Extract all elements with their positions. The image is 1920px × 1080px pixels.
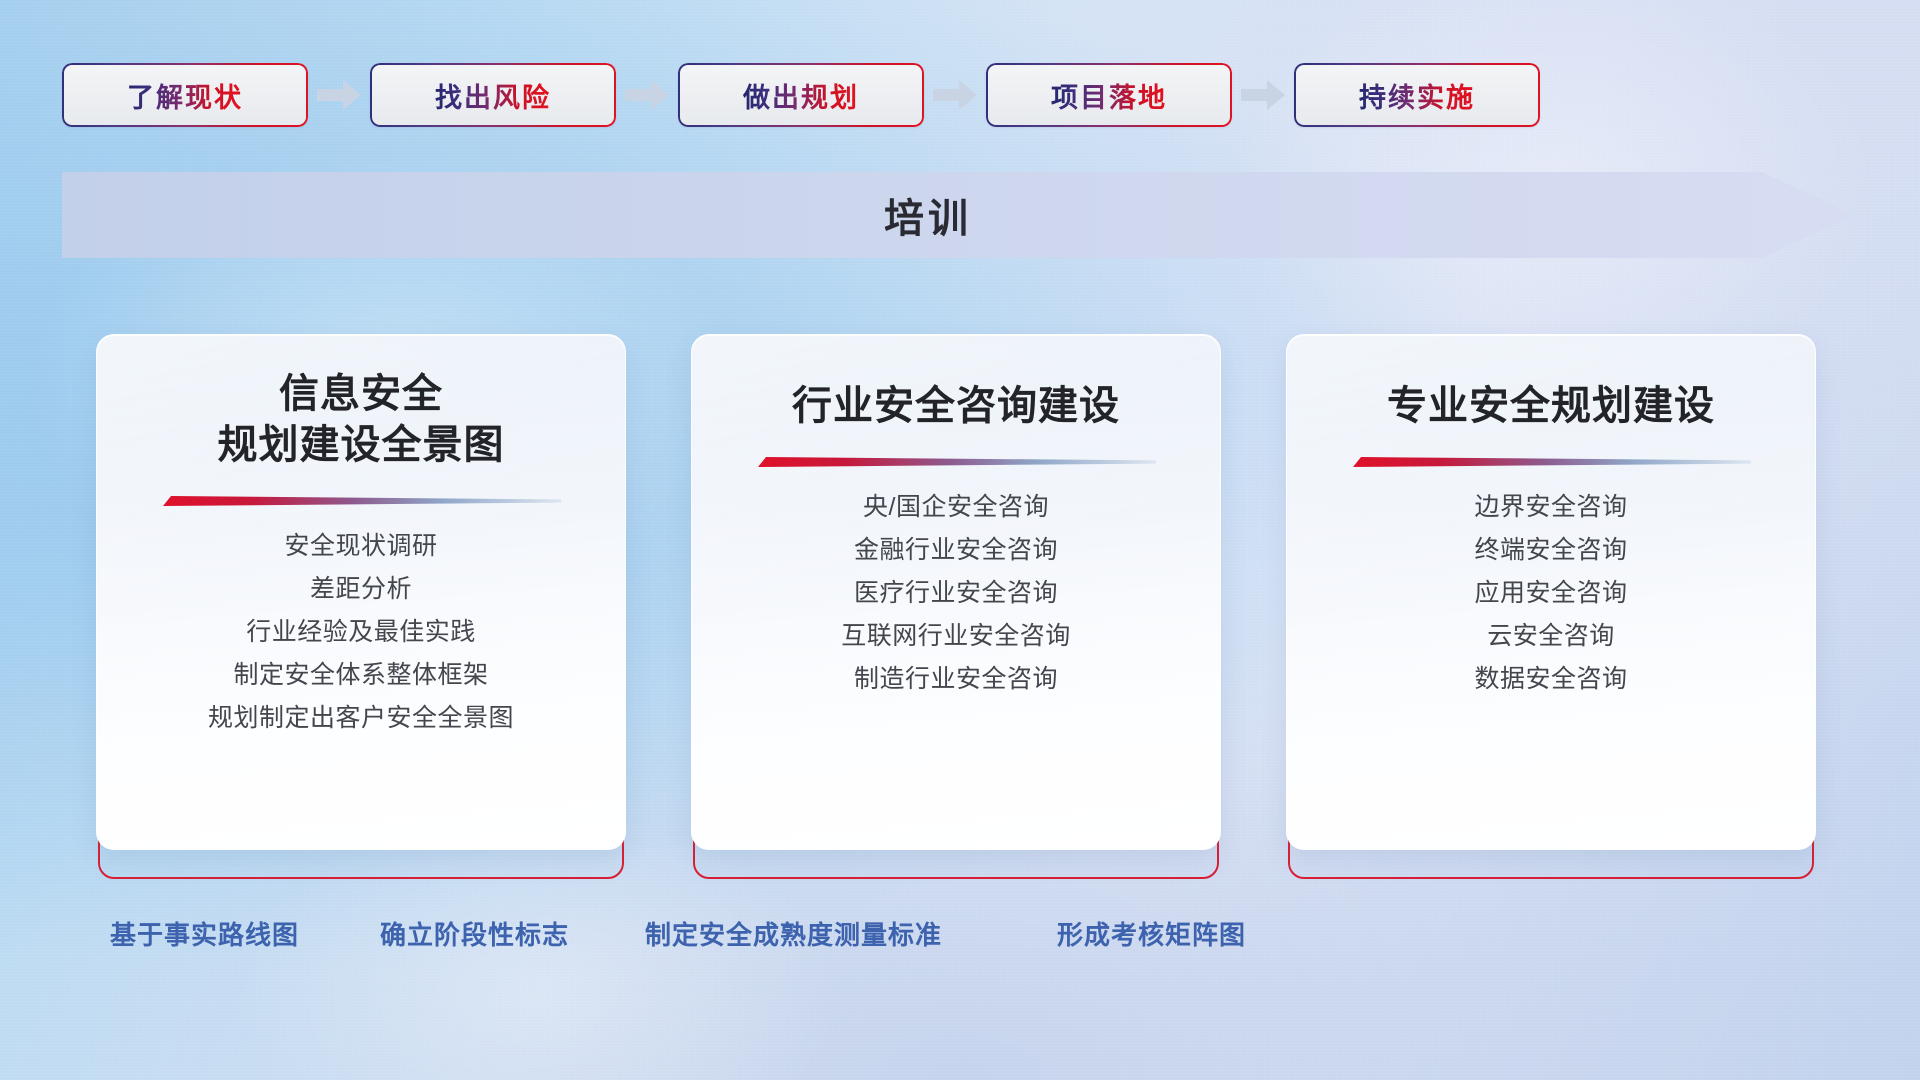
card-2[interactable]: 行业安全咨询建设 央/国企安全咨询 (691, 334, 1221, 879)
list-item: 差距分析 (97, 568, 625, 611)
process-step-flow: 了解现状 找出风险 做出规划 项目落地 持续实施 (62, 62, 1858, 128)
gradient-wedge-rule (1351, 454, 1751, 470)
list-item: 边界安全咨询 (1287, 486, 1815, 529)
list-item: 数据安全咨询 (1287, 658, 1815, 701)
gradient-wedge-rule (161, 493, 561, 509)
training-banner: 培训 (62, 172, 1854, 258)
list-item: 云安全咨询 (1287, 615, 1815, 658)
list-item: 互联网行业安全咨询 (692, 615, 1220, 658)
card-1-title: 信息安全 规划建设全景图 (218, 369, 505, 471)
list-item: 行业经验及最佳实践 (97, 611, 625, 654)
list-item: 制造行业安全咨询 (692, 658, 1220, 701)
step-chip-1[interactable]: 了解现状 (62, 63, 308, 127)
arrow-right-icon (924, 63, 986, 127)
list-item: 金融行业安全咨询 (692, 529, 1220, 572)
list-item: 央/国企安全咨询 (692, 486, 1220, 529)
list-item: 安全现状调研 (97, 525, 625, 568)
footer-label-row: 基于事实路线图 确立阶段性标志 制定安全成熟度测量标准 形成考核矩阵图 (0, 915, 1920, 959)
list-item: 医疗行业安全咨询 (692, 572, 1220, 615)
footer-label-4: 形成考核矩阵图 (1057, 915, 1246, 952)
card-3-title: 专业安全规划建设 (1387, 381, 1715, 432)
arrow-right-icon (1232, 63, 1294, 127)
footer-label-1: 基于事实路线图 (110, 915, 299, 952)
step-chip-4[interactable]: 项目落地 (986, 63, 1232, 127)
step-chip-5[interactable]: 持续实施 (1294, 63, 1540, 127)
card-3[interactable]: 专业安全规划建设 边界安全咨询 (1286, 334, 1816, 879)
card-2-list: 央/国企安全咨询 金融行业安全咨询 医疗行业安全咨询 互联网行业安全咨询 制造行… (692, 486, 1220, 701)
step-label-1: 了解现状 (127, 76, 243, 115)
list-item: 终端安全咨询 (1287, 529, 1815, 572)
banner-label: 培训 (62, 172, 1854, 258)
step-label-3: 做出规划 (743, 76, 859, 115)
footer-label-2: 确立阶段性标志 (380, 915, 569, 952)
step-chip-3[interactable]: 做出规划 (678, 63, 924, 127)
arrow-right-icon (308, 63, 370, 127)
card-1-list: 安全现状调研 差距分析 行业经验及最佳实践 制定安全体系整体框架 规划制定出客户… (97, 525, 625, 740)
footer-label-3: 制定安全成熟度测量标准 (645, 915, 942, 952)
list-item: 应用安全咨询 (1287, 572, 1815, 615)
list-item: 制定安全体系整体框架 (97, 654, 625, 697)
card-3-list: 边界安全咨询 终端安全咨询 应用安全咨询 云安全咨询 数据安全咨询 (1287, 486, 1815, 701)
card-1[interactable]: 信息安全 规划建设全景图 安全现状调研 (96, 334, 626, 879)
card-group: 信息安全 规划建设全景图 安全现状调研 (96, 334, 1816, 879)
card-2-title: 行业安全咨询建设 (792, 381, 1120, 432)
step-label-4: 项目落地 (1051, 76, 1167, 115)
list-item: 规划制定出客户安全全景图 (97, 697, 625, 740)
step-chip-2[interactable]: 找出风险 (370, 63, 616, 127)
step-label-5: 持续实施 (1359, 76, 1475, 115)
gradient-wedge-rule (756, 454, 1156, 470)
step-label-2: 找出风险 (435, 76, 551, 115)
arrow-right-icon (616, 63, 678, 127)
